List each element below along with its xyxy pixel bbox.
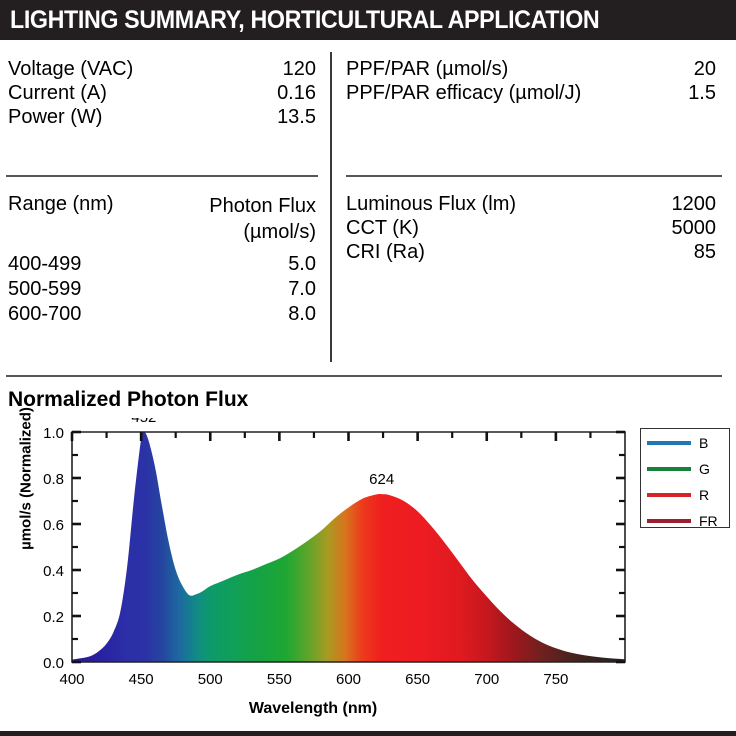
peak-annotation: 624 <box>369 471 394 488</box>
y-tick-label: 0.6 <box>43 517 64 534</box>
x-tick-label: 600 <box>336 671 361 688</box>
y-axis-label: µmol/s (Normalized) <box>18 369 35 589</box>
spec-label: Luminous Flux (lm) <box>346 193 516 216</box>
legend-label-b: B <box>699 435 708 451</box>
x-tick-label: 750 <box>543 671 568 688</box>
flux-cell: 5.0 <box>288 253 316 276</box>
range-cell: 500-599 <box>8 278 81 301</box>
spec-value: 0.16 <box>277 82 316 105</box>
column-header-range: Range (nm) <box>8 193 114 216</box>
x-tick-label: 450 <box>129 671 154 688</box>
table-row: CRI (Ra) 85 <box>346 241 716 265</box>
legend-swatch-r <box>647 493 691 497</box>
column-header-photon-flux-line1: Photon Flux <box>209 195 316 217</box>
spec-label: PPF/PAR efficacy (µmol/J) <box>346 82 581 105</box>
y-tick-label: 0.8 <box>43 471 64 488</box>
spec-value: 85 <box>694 241 716 264</box>
legend-item-g: G <box>641 459 729 481</box>
table-row: 600-700 8.0 <box>8 303 316 328</box>
range-photon-flux-table: Range (nm) Photon Flux (µmol/s) 400-499 … <box>8 193 316 328</box>
divider-chart-top <box>6 375 722 377</box>
header-bar: LIGHTING SUMMARY, HORTICULTURAL APPLICAT… <box>0 0 736 40</box>
legend-item-b: B <box>641 433 729 455</box>
table-row: Voltage (VAC) 120 <box>8 58 316 82</box>
spec-label: CRI (Ra) <box>346 241 425 264</box>
column-divider <box>330 52 332 362</box>
legend-item-r: R <box>641 485 729 507</box>
y-tick-label: 0.4 <box>43 563 64 580</box>
page-title: LIGHTING SUMMARY, HORTICULTURAL APPLICAT… <box>10 6 599 34</box>
y-tick-label: 0.2 <box>43 609 64 626</box>
spec-value: 13.5 <box>277 106 316 129</box>
table-row: Current (A) 0.16 <box>8 82 316 106</box>
lighting-summary-page: LIGHTING SUMMARY, HORTICULTURAL APPLICAT… <box>0 0 736 731</box>
y-tick-label: 1.0 <box>43 425 64 442</box>
chart-legend: B G R FR <box>640 428 730 528</box>
spectrum-chart-svg: 0.00.20.40.60.81.04004505005506006507007… <box>0 418 736 728</box>
x-tick-label: 500 <box>198 671 223 688</box>
table-row: PPF/PAR (µmol/s) 20 <box>346 58 716 82</box>
range-cell: 400-499 <box>8 253 81 276</box>
legend-swatch-fr <box>647 519 691 523</box>
spec-value: 5000 <box>672 217 717 240</box>
spec-label: Power (W) <box>8 106 102 129</box>
spectrum-chart: 0.00.20.40.60.81.04004505005506006507007… <box>0 418 736 728</box>
x-tick-label: 700 <box>474 671 499 688</box>
y-tick-label: 0.0 <box>43 655 64 672</box>
table-body: 400-499 5.0 500-599 7.0 600-700 8.0 <box>8 253 316 328</box>
legend-label-fr: FR <box>699 513 718 529</box>
legend-label-r: R <box>699 487 709 503</box>
x-tick-label: 400 <box>59 671 84 688</box>
table-row: Luminous Flux (lm) 1200 <box>346 193 716 217</box>
column-header-photon-flux-line2: (µmol/s) <box>243 221 316 243</box>
spec-value: 120 <box>283 58 316 81</box>
table-header: Range (nm) Photon Flux (µmol/s) <box>8 193 316 245</box>
photometric-spec-block: Luminous Flux (lm) 1200 CCT (K) 5000 CRI… <box>346 193 716 265</box>
spec-value: 1.5 <box>688 82 716 105</box>
range-cell: 600-700 <box>8 303 81 326</box>
column-header-photon-flux: Photon Flux (µmol/s) <box>209 193 316 245</box>
table-row: 400-499 5.0 <box>8 253 316 278</box>
table-row: 500-599 7.0 <box>8 278 316 303</box>
spec-label: CCT (K) <box>346 217 419 240</box>
chart-heading: Normalized Photon Flux <box>8 388 248 412</box>
spec-label: PPF/PAR (µmol/s) <box>346 58 508 81</box>
table-row: Power (W) 13.5 <box>8 106 316 130</box>
ppf-spec-block: PPF/PAR (µmol/s) 20 PPF/PAR efficacy (µm… <box>346 58 716 106</box>
x-axis-label: Wavelength (nm) <box>0 700 626 718</box>
legend-swatch-g <box>647 467 691 471</box>
legend-swatch-b <box>647 441 691 445</box>
spec-value: 1200 <box>672 193 717 216</box>
x-tick-label: 650 <box>405 671 430 688</box>
table-row: CCT (K) 5000 <box>346 217 716 241</box>
divider-left-upper <box>6 175 318 177</box>
legend-label-g: G <box>699 461 710 477</box>
table-row: PPF/PAR efficacy (µmol/J) 1.5 <box>346 82 716 106</box>
x-tick-label: 550 <box>267 671 292 688</box>
spec-value: 20 <box>694 58 716 81</box>
flux-cell: 8.0 <box>288 303 316 326</box>
peak-annotation: 452 <box>131 418 156 426</box>
legend-item-fr: FR <box>641 511 729 533</box>
spec-label: Voltage (VAC) <box>8 58 133 81</box>
electrical-spec-block: Voltage (VAC) 120 Current (A) 0.16 Power… <box>8 58 316 130</box>
flux-cell: 7.0 <box>288 278 316 301</box>
spec-label: Current (A) <box>8 82 107 105</box>
divider-right-upper <box>346 175 722 177</box>
spectrum-area <box>72 431 625 662</box>
